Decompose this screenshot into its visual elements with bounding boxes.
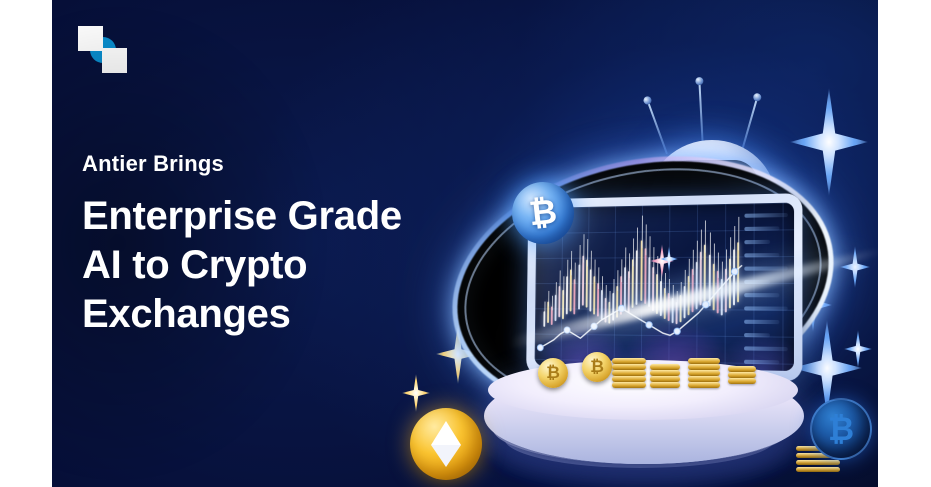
headline-line-1: Enterprise Grade	[82, 192, 502, 241]
artwork-canvas: Antier Brings Enterprise Grade AI to Cry…	[52, 0, 878, 487]
ethereum-coin-gold	[410, 408, 482, 480]
bitcoin-symbol-icon: ₿	[538, 358, 568, 388]
sparkle-icon	[844, 330, 872, 368]
sparkle-icon	[660, 246, 678, 272]
robot-antenna-icon	[740, 100, 757, 154]
bitcoin-coin-gold: ₿	[582, 352, 612, 382]
ethereum-symbol-icon	[431, 421, 461, 467]
eyebrow-text: Antier Brings	[82, 152, 502, 176]
bitcoin-symbol-icon: ₿	[527, 195, 558, 232]
sparkle-icon	[790, 88, 868, 196]
headline-line-3: Exchanges	[82, 290, 502, 339]
bitcoin-coin-dark-blue: ₿	[810, 398, 872, 460]
headline-block: Antier Brings Enterprise Grade AI to Cry…	[82, 152, 502, 339]
antier-logo[interactable]	[78, 22, 134, 74]
headline-line-2: AI to Crypto	[82, 241, 502, 290]
page-title: Enterprise Grade AI to Crypto Exchanges	[82, 192, 502, 338]
logo-square-bottom-icon	[102, 48, 127, 73]
bitcoin-symbol-icon: ₿	[828, 413, 854, 445]
bitcoin-coin-gold: ₿	[538, 358, 568, 388]
promo-banner: Antier Brings Enterprise Grade AI to Cry…	[0, 0, 931, 487]
logo-square-top-icon	[78, 26, 103, 51]
sparkle-icon	[402, 374, 430, 412]
robot-antenna-icon	[648, 103, 668, 154]
bitcoin-symbol-icon: ₿	[582, 352, 612, 382]
